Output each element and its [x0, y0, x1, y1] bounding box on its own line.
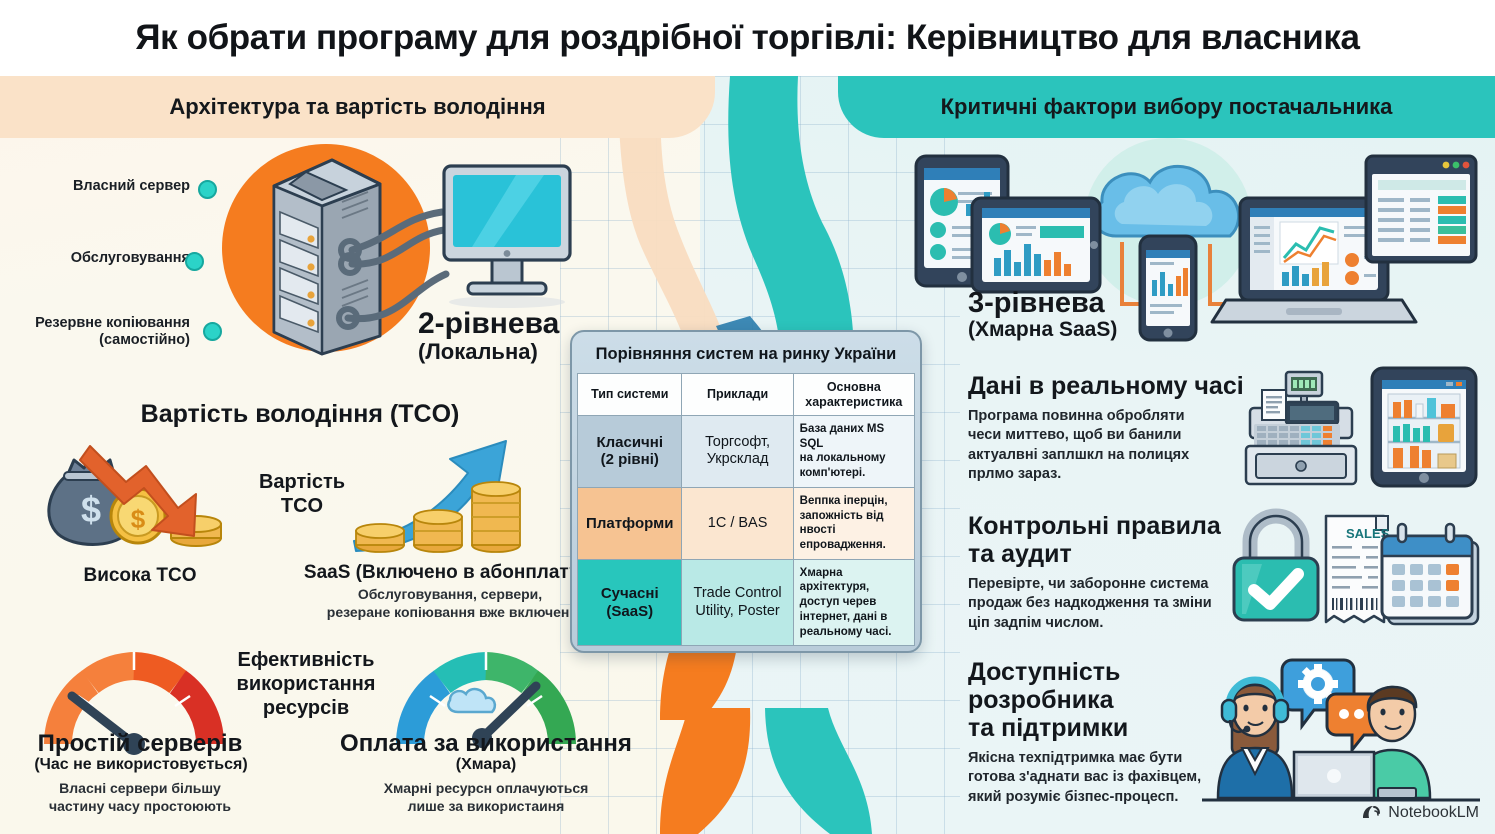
- comparison-table-card: Порівняння систем на ринку України Тип с…: [570, 330, 922, 653]
- notebooklm-watermark-label: NotebookLM: [1388, 804, 1479, 822]
- table-col-header-type: Тип системи: [578, 374, 682, 416]
- two-tier-subtitle: (Локальна): [418, 340, 559, 364]
- notebooklm-icon: [1361, 804, 1381, 822]
- saas-caption-sub: Обслуговування, сервери, резеране копіюв…: [290, 586, 610, 621]
- table-cell-feature: База даних MS SQL на локальному комп'юте…: [793, 416, 914, 488]
- server-node-label-1: Обслуговування: [20, 250, 190, 267]
- section-header-right: Критичні фактори вибору постачальника: [838, 76, 1495, 138]
- comparison-table-title: Порівняння систем на ринку України: [577, 337, 915, 373]
- payperuse-title: Оплата за використання: [330, 730, 642, 758]
- three-tier-subtitle: (Хмарна SaaS): [968, 318, 1117, 341]
- idle-server-subtitle: (Час не використовується): [6, 755, 276, 774]
- cloud-icon: [448, 689, 494, 712]
- svg-text:$: $: [131, 504, 146, 534]
- saas-caption: SaaS (Включено в абонплату): [290, 562, 600, 585]
- right-block-realtime: Дані в реальному часі Програма повинна о…: [968, 372, 1258, 484]
- server-node-label-2: Резервне копіювання (самостійно): [10, 315, 190, 348]
- table-cell-examples: Trade Control Utility, Poster: [682, 559, 793, 646]
- right-block-support-heading: Доступність розробника та підтримки: [968, 658, 1268, 742]
- server-node-dot-0: [198, 180, 217, 199]
- table-col-header-feature: Основна характеристика: [793, 374, 914, 416]
- tco-middle-label: Вартість TCO: [222, 470, 382, 518]
- right-block-audit-body: Перевірте, чи заборонне система продаж б…: [968, 575, 1268, 633]
- right-block-realtime-heading: Дані в реальному часі: [968, 372, 1258, 400]
- table-header-row: Тип системи Приклади Основна характерист…: [578, 374, 915, 416]
- page-title: Як обрати програму для роздрібної торгів…: [135, 18, 1359, 58]
- section-header-left: Архітектура та вартість володіння: [0, 76, 715, 138]
- two-tier-title: 2-рівнева: [418, 308, 559, 340]
- three-tier-title: 3-рівнева: [968, 288, 1117, 318]
- notebooklm-watermark: NotebookLM: [1361, 804, 1479, 822]
- calendar-icon: [1382, 524, 1478, 624]
- right-block-audit-heading: Контрольні правила та аудит: [968, 512, 1268, 568]
- table-cell-type: Сучасні (SaaS): [578, 559, 682, 646]
- comparison-table: Тип системи Приклади Основна характерист…: [577, 373, 915, 646]
- right-block-support: Доступність розробника та підтримки Якіс…: [968, 658, 1268, 807]
- server-node-label-0: Власний сервер: [20, 178, 190, 195]
- page-title-bar: Як обрати програму для роздрібної торгів…: [0, 0, 1495, 76]
- server-node-dot-1: [185, 252, 204, 271]
- receipt-icon: SALES: [1326, 516, 1390, 622]
- two-tier-label: 2-рівнева (Локальна): [418, 308, 559, 364]
- table-row: Класичні (2 рівні) Торгсофт, Укрсклад Ба…: [578, 416, 915, 488]
- payperuse-subtitle: (Хмара): [330, 755, 642, 774]
- table-row: Сучасні (SaaS) Trade Control Utility, Po…: [578, 559, 915, 646]
- section-header-right-label: Критичні фактори вибору постачальника: [941, 94, 1393, 120]
- table-cell-feature: Хмарна архітектуря, доступ черев інтерне…: [793, 559, 914, 646]
- table-cell-feature: Веппка іперцін, запожність від нвості еп…: [793, 487, 914, 559]
- table-col-header-examples: Приклади: [682, 374, 793, 416]
- three-tier-label: 3-рівнева (Хмарна SaaS): [968, 288, 1117, 342]
- svg-text:$: $: [81, 489, 101, 530]
- table-cell-examples: Торгсофт, Укрсклад: [682, 416, 793, 488]
- resource-efficiency-heading: Ефективність використання ресурсів: [216, 648, 396, 720]
- cash-register-and-tablet-icon: [1242, 362, 1486, 496]
- right-block-support-body: Якісна техпідтримка має бути готова з'ад…: [968, 749, 1268, 807]
- table-cell-type: Платформи: [578, 487, 682, 559]
- section-header-left-label: Архітектура та вартість володіння: [169, 94, 545, 120]
- right-block-audit: Контрольні правила та аудит Перевірте, ч…: [968, 512, 1268, 633]
- idle-server-title: Простій серверів: [10, 730, 270, 758]
- infographic-canvas: Архітектура та вартість володіння Критич…: [0, 0, 1495, 834]
- table-row: Платформи 1C / BAS Веппка іперцін, запож…: [578, 487, 915, 559]
- right-block-realtime-body: Програма повинна обробляти чеси миттево,…: [968, 407, 1258, 484]
- payperuse-body: Хмарні ресурсн оплачуються лише за викор…: [330, 780, 642, 815]
- server-node-dot-2: [203, 322, 222, 341]
- high-tco-illustration: $ $: [28, 438, 248, 558]
- tco-section-heading: Вартість володіння (TCO): [60, 400, 540, 429]
- table-cell-type: Класичні (2 рівні): [578, 416, 682, 488]
- idle-server-body: Власні сервери більшу частину часу прост…: [12, 780, 268, 815]
- high-tco-caption: Висока TCO: [20, 565, 260, 588]
- table-cell-examples: 1C / BAS: [682, 487, 793, 559]
